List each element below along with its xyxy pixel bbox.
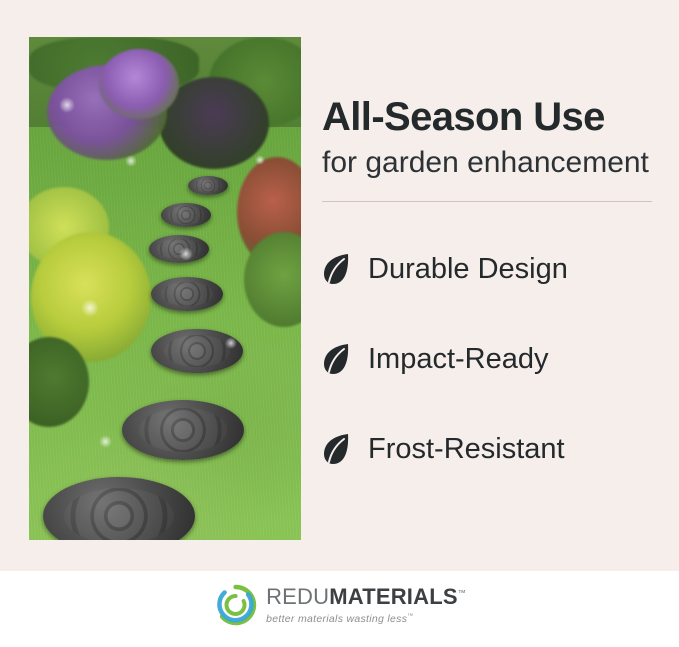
leaf-icon [322,432,352,466]
garden-stepping-stone-path-photo [29,37,301,540]
feature-label: Frost-Resistant [368,433,565,466]
banner-content: All-Season Use for garden enhancement Du… [322,96,655,510]
brand-wordmark: REDUMATERIALS™ [266,586,466,608]
leaf-icon [322,252,352,286]
brand-logo: REDUMATERIALS™ better materials wasting … [213,583,466,627]
page-title: All-Season Use [322,96,655,138]
feature-label: Durable Design [368,253,568,286]
brand-word-primary: REDU [266,584,329,609]
photo-stepping-stone [122,400,244,460]
leaf-icon [322,342,352,376]
photo-stepping-stone [188,176,228,195]
page-subtitle: for garden enhancement [322,146,655,179]
divider [322,201,652,202]
photo-stepping-stone [149,235,209,263]
brand-tagline: better materials wasting less [266,613,407,625]
photo-stepping-stone [161,203,211,227]
feature-label: Impact-Ready [368,343,549,376]
brand-tagline-trademark: ™ [407,613,413,619]
photo-stepping-stone [151,329,243,373]
photo-shrub-purple-upper [99,49,179,119]
list-item: Impact-Ready [322,314,655,404]
footer-bar: REDUMATERIALS™ better materials wasting … [0,571,679,647]
brand-tagline-row: better materials wasting less™ [266,613,466,625]
list-item: Frost-Resistant [322,404,655,494]
redu-circular-swirl-logo-mark [213,583,257,627]
brand-trademark: ™ [458,588,466,597]
feature-list: Durable Design Impact-Ready [322,224,655,494]
photo-stepping-stone [151,277,223,311]
brand-text-block: REDUMATERIALS™ better materials wasting … [266,586,466,625]
brand-word-secondary: MATERIALS [329,584,458,609]
promo-banner: All-Season Use for garden enhancement Du… [0,0,679,571]
list-item: Durable Design [322,224,655,314]
